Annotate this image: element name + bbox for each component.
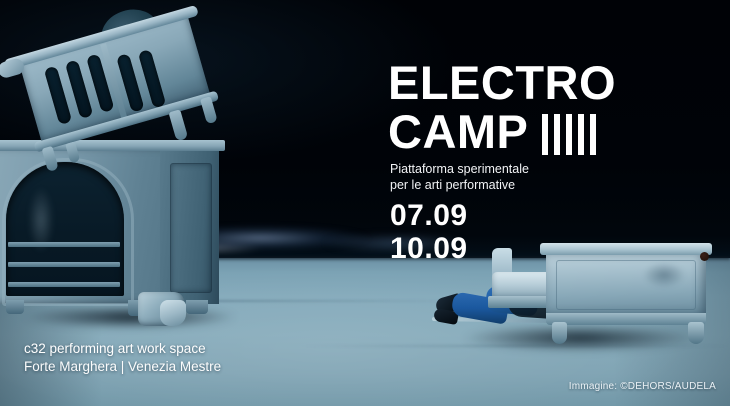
venue-name: c32 performing art work space [24,340,221,358]
dresser-leg [688,322,704,344]
title-block: ELECTRO CAMP Piattaforma sperimentale pe… [388,58,708,193]
dates-block: 07.09 10.09 [390,199,468,265]
date-start: 07.09 [390,199,468,232]
cabinet-shelf [8,242,120,247]
image-credit: Immagine: ©DEHORS/AUDELA [569,381,716,392]
cabinet-claw-foot-detail [160,300,186,326]
vertical-bars-logo-icon [542,114,596,155]
cabinet-shelf [8,282,120,287]
poster-image: ELECTRO CAMP Piattaforma sperimentale pe… [0,0,730,406]
dresser-knob [700,252,709,261]
dresser-leg [552,322,567,344]
title-line-camp: CAMP [388,107,528,156]
tilted-dresser-leg [42,146,59,172]
cabinet-shelf [8,262,120,267]
subtitle-line-1: Piattaforma sperimentale [390,162,708,178]
cabinet-side-inset [170,163,212,293]
venue-location: Forte Marghera | Venezia Mestre [24,358,221,376]
subtitle-line-2: per le arti performative [390,178,708,194]
dresser-skirt [546,313,706,325]
tilted-dresser-leg [65,141,80,163]
cabinet-foot [186,300,208,314]
dresser-top-surface [540,243,712,255]
date-end: 10.09 [390,232,468,265]
title-line-electro: ELECTRO [388,58,708,107]
dresser-front-panel [556,260,696,310]
venue-block: c32 performing art work space Forte Marg… [24,340,221,376]
title-row-camp: CAMP [388,107,708,156]
subtitle: Piattaforma sperimentale per le arti per… [390,162,708,193]
cabinet-foot [6,300,24,314]
tilted-dresser-leg [168,109,188,141]
